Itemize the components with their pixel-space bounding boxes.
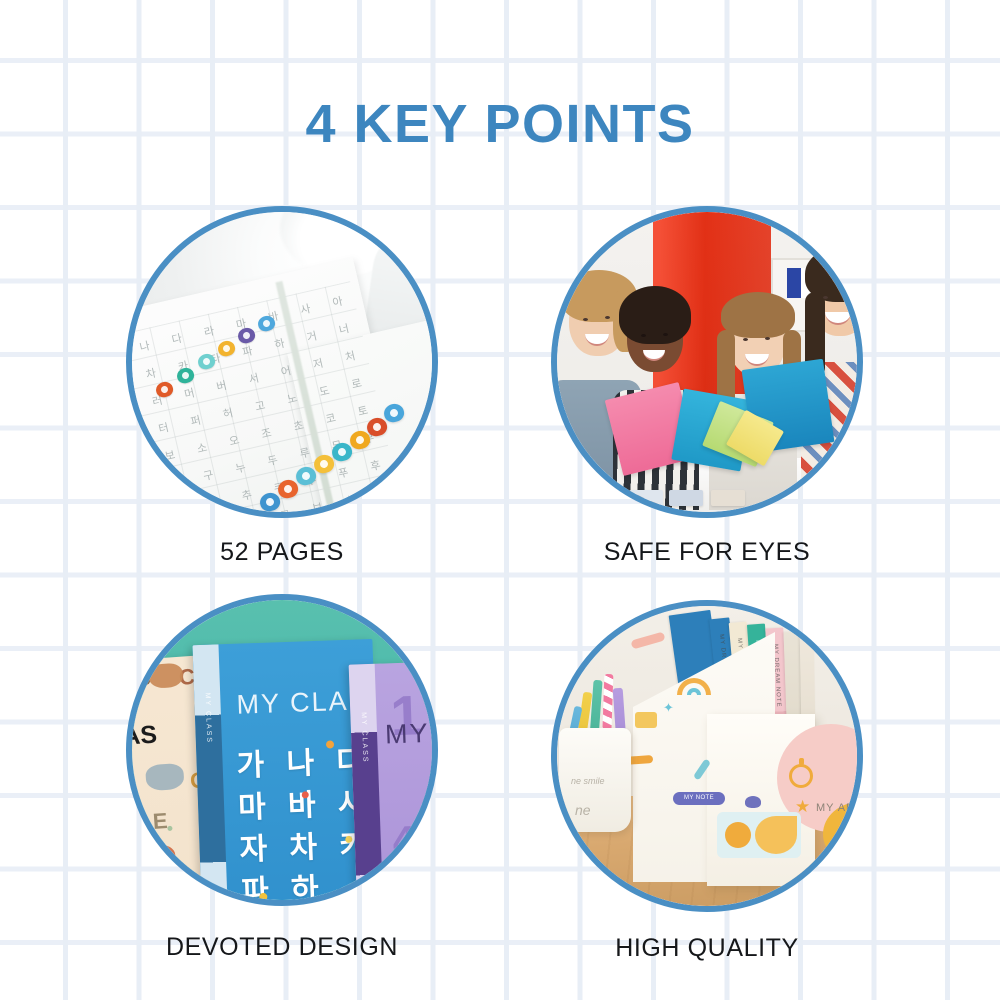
point-label-4: HIGH QUALITY	[547, 934, 867, 963]
cup-text-line-2: ne	[575, 802, 591, 818]
page-title: 4 KEY POINTS	[0, 92, 1000, 156]
front-notebook-text: MY AR	[816, 802, 855, 814]
point-card-4: MY DREAM NOTE MY DREAM NOTE MY DREAM NOT…	[547, 600, 867, 963]
open-workbook-photo: 가나다라마바사아자차카타파하거너더러머버서어저처커터퍼허고노도로모보소오조초코토…	[132, 212, 432, 512]
file-label: MY NOTE	[673, 792, 725, 805]
cover-korean-line-4: 파 하	[240, 871, 326, 900]
point-card-1: 가나다라마바사아자차카타파하거너더러머버서어저처커터퍼허고노도로모보소오조초코토…	[122, 206, 442, 567]
circle-frame-4: MY DREAM NOTE MY DREAM NOTE MY DREAM NOT…	[551, 600, 863, 912]
cover-title-purple: MY C	[385, 717, 432, 751]
point-card-3: A B C CLAS C G U D E 16 J	[122, 594, 442, 962]
circle-frame-2	[551, 206, 863, 518]
circle-frame-3: A B C CLAS C G U D E 16 J	[126, 594, 438, 906]
cover-spine-text-purple: MY CLASS	[360, 712, 369, 763]
cup-text-line-1: ne smile	[571, 776, 605, 786]
cover-spine-text: MY CLASS	[204, 693, 213, 744]
students-with-notebooks-photo	[557, 212, 857, 512]
circle-frame-1: 가나다라마바사아자차카타파하거너더러머버서어저처커터퍼허고노도로모보소오조초코토…	[126, 206, 438, 518]
workbook-index-tabs	[132, 212, 432, 512]
cover-purple: MY CLASS 1 MY C 4	[349, 659, 432, 900]
cover-number: 4	[392, 819, 416, 865]
point-label-1: 52 PAGES	[122, 538, 442, 567]
key-points-infographic: 4 KEY POINTS 가나다라마바사아자차카타파하거너더러머버서어저처커터퍼…	[0, 0, 1000, 1000]
magazine-file-photo: MY DREAM NOTE MY DREAM NOTE MY DREAM NOT…	[557, 606, 857, 906]
point-label-2: SAFE FOR EYES	[547, 538, 867, 567]
point-label-3: DEVOTED DESIGN	[122, 933, 442, 962]
notebook-covers-photo: A B C CLAS C G U D E 16 J	[132, 600, 432, 900]
point-card-2: SAFE FOR EYES	[547, 206, 867, 567]
